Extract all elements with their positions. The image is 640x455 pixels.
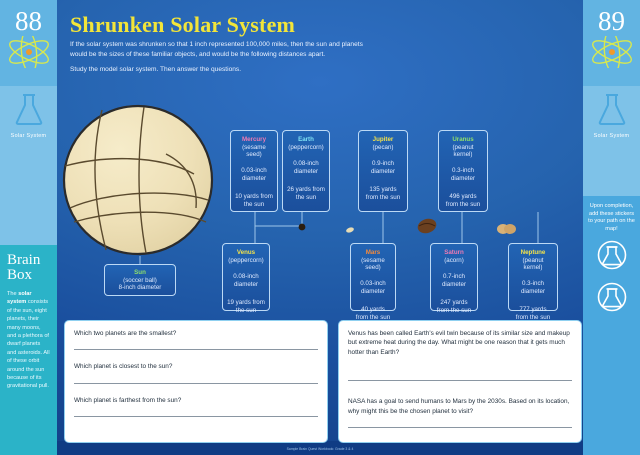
left-page-number: 88 [0,6,57,37]
card-sun-name: Sun [111,269,169,276]
card-venus-distance: 19 yards from the sun [227,299,265,316]
questions-panel-left: Which two planets are the smallest? Whic… [64,320,328,443]
question-5: NASA has a goal to send humans to Mars b… [348,397,572,416]
card-mars: Mars (sesame seed) 0.03-inch diameter 40… [350,243,396,311]
left-rail-caption: Solar System [0,133,57,139]
peppercorn-icon [296,222,308,232]
card-jupiter-distance: 135 yards from the sun [363,186,403,203]
card-neptune-name: Neptune [513,249,553,256]
card-earth-diameter: 0.08-inch diameter [287,160,325,177]
question-3: Which planet is farthest from the sun? [74,396,318,405]
footer-credit: Sample Brain Quest Workbook: Grade 3 & 4 [0,447,640,451]
answer-line-5[interactable] [348,427,572,428]
card-sun: Sun (soccer ball) 8-inch diameter [104,264,176,296]
card-mercury: Mercury (sesame seed) 0.03-inch diameter… [230,130,278,212]
card-neptune-object: (peanut kernel) [513,257,553,271]
card-venus-diameter: 0.08-inch diameter [227,273,265,290]
card-venus-name: Venus [227,249,265,256]
pecan-icon [416,216,438,236]
card-jupiter-name: Jupiter [363,136,403,143]
card-mercury-object: (sesame seed) [235,144,273,158]
atom-icon [0,36,57,73]
answer-line-1[interactable] [74,349,318,350]
card-mercury-name: Mercury [235,136,273,143]
card-mars-diameter: 0.03-inch diameter [355,280,391,297]
card-saturn-object: (acorn) [435,257,473,264]
brain-box-text: The solar system consists of the sun, ei… [7,290,51,391]
card-neptune: Neptune (peanut kernel) 0.3-inch diamete… [508,243,558,311]
right-rail-caption: Solar System [583,133,640,139]
right-page-rail: 89 Solar System Upon completion, add the… [583,0,640,455]
card-sun-object: (soccer ball) [111,277,169,284]
worksheet-page: Shrunken Solar System If the solar syste… [0,0,640,455]
card-mercury-distance: 10 yards from the sun [235,193,273,210]
flask-icon-right [583,92,640,131]
sesame-seed-icon [345,226,355,234]
atom-icon-right [583,36,640,73]
card-earth-object: (peppercorn) [287,144,325,151]
answer-line-2[interactable] [74,383,318,384]
card-jupiter: Jupiter (pecan) 0.9-inch diameter 135 ya… [358,130,408,212]
right-page-number: 89 [583,6,640,37]
card-saturn-diameter: 0.7-inch diameter [435,273,473,290]
card-earth-distance: 26 yards from the sun [287,186,325,203]
brain-box-text-c: consists of the sun, eight planets, thei… [7,299,50,389]
brain-box-title-line2: Box [7,267,32,283]
brain-box-title-line1: Brain [7,252,40,268]
card-jupiter-object: (pecan) [363,144,403,151]
flask-icon [0,92,57,131]
card-mars-object: (sesame seed) [355,257,391,271]
answer-line-3[interactable] [74,416,318,417]
card-earth-name: Earth [287,136,325,143]
sticker-callout: Upon completion, add these stickers to y… [583,196,640,455]
card-saturn-distance: 247 yards from the sun [435,299,473,316]
card-sun-diameter: 8-inch diameter [111,284,169,291]
sticker-callout-text: Upon completion, add these stickers to y… [588,203,635,233]
card-uranus-object: (peanut kernel) [443,144,483,158]
card-neptune-diameter: 0.3-inch diameter [513,280,553,297]
card-saturn: Saturn (acorn) 0.7-inch diameter 247 yar… [430,243,478,311]
brain-box-title: Brain Box [7,253,51,283]
peanut-kernel-icon [496,222,516,236]
brain-box: Brain Box The solar system consists of t… [0,245,57,455]
card-uranus-distance: 496 yards from the sun [443,193,483,210]
card-jupiter-diameter: 0.9-inch diameter [363,160,403,177]
card-uranus-name: Uranus [443,136,483,143]
card-venus: Venus (peppercorn) 0.08-inch diameter 19… [222,243,270,311]
card-saturn-name: Saturn [435,249,473,256]
card-uranus: Uranus (peanut kernel) 0.3-inch diameter… [438,130,488,212]
card-mars-name: Mars [355,249,391,256]
brain-box-text-a: The [7,291,18,297]
question-4: Venus has been called Earth's evil twin … [348,329,572,357]
left-page-rail: 88 Solar System Brain Box The solar syst… [0,0,57,455]
card-uranus-diameter: 0.3-inch diameter [443,167,483,184]
card-mercury-diameter: 0.03-inch diameter [235,167,273,184]
card-venus-object: (peppercorn) [227,257,265,264]
question-2: Which planet is closest to the sun? [74,362,318,371]
question-1: Which two planets are the smallest? [74,329,318,338]
answer-line-4[interactable] [348,380,572,381]
sticker-flask-1[interactable] [588,240,635,275]
sticker-flask-2[interactable] [588,282,635,317]
card-earth: Earth (peppercorn) 0.08-inch diameter 26… [282,130,330,212]
questions-panel-right: Venus has been called Earth's evil twin … [338,320,582,443]
